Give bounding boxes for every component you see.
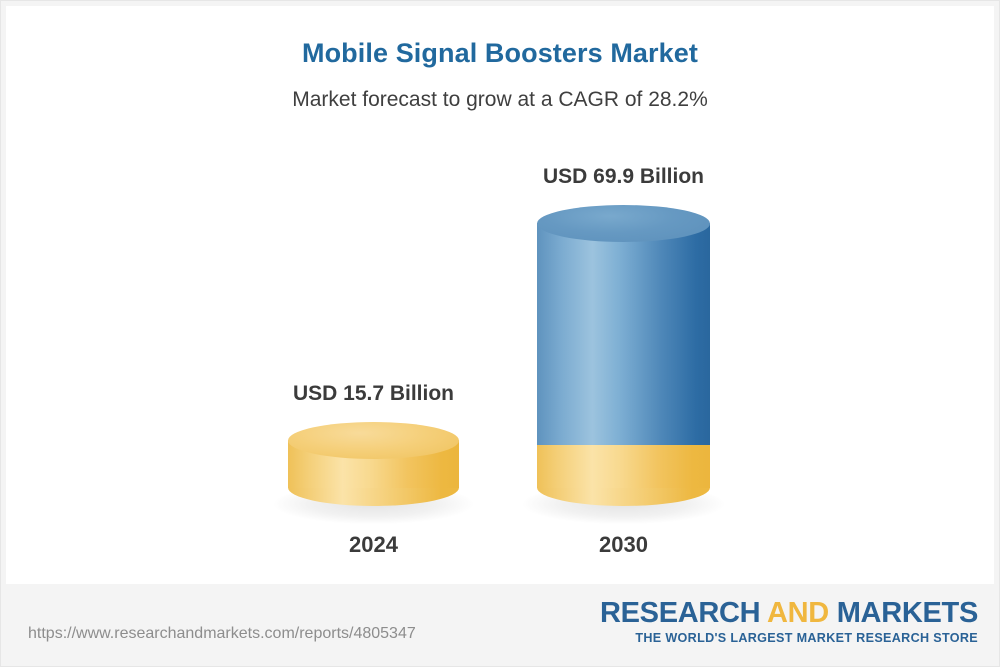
footer-bar: https://www.researchandmarkets.com/repor… [0,584,1000,667]
brand-wordmark: RESEARCH AND MARKETS [600,598,978,628]
cylinder-2030[interactable] [537,205,710,508]
report-url[interactable]: https://www.researchandmarkets.com/repor… [28,625,416,643]
cylinder-segment-blue-2030 [537,223,710,445]
cylinder-top-cap-2024 [288,422,459,459]
value-label-2024: USD 15.7 Billion [288,382,459,406]
category-label-2030: 2030 [537,532,710,558]
brand-word-and: AND [767,597,837,629]
category-label-2024: 2024 [288,532,459,558]
cylinder-top-cap-2030 [537,205,710,242]
brand-tagline: THE WORLD'S LARGEST MARKET RESEARCH STOR… [600,631,978,645]
brand-logo[interactable]: RESEARCH AND MARKETS THE WORLD'S LARGEST… [600,598,978,645]
value-label-2030: USD 69.9 Billion [537,165,710,189]
bar-group-2024: USD 15.7 Billion 2024 [288,0,459,578]
plot-area: USD 15.7 Billion 2024 USD 69.9 Billion [0,0,1000,578]
brand-word-research: RESEARCH [600,597,767,629]
cylinder-2024[interactable] [288,422,459,508]
infographic-canvas: Mobile Signal Boosters Market Market for… [0,0,1000,667]
bar-group-2030: USD 69.9 Billion 2030 [537,0,710,578]
cylinder-segment-yellow-2030 [537,440,710,488]
brand-word-markets: MARKETS [837,597,978,629]
